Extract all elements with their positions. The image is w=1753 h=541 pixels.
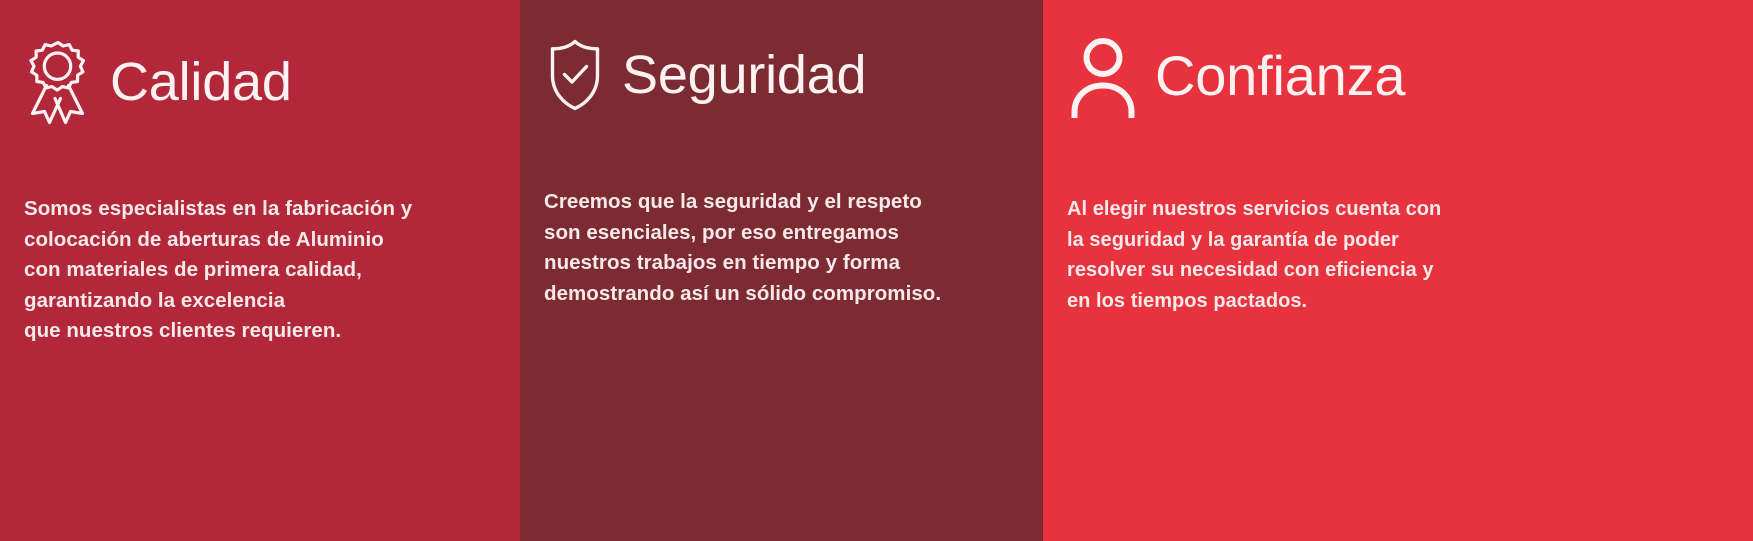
values-banner: Calidad Somos especialistas en la fabric…: [0, 0, 1753, 541]
shield-check-icon: [544, 36, 606, 114]
calidad-body-line: que nuestros clientes requieren.: [24, 316, 412, 347]
seguridad-body-line: demostrando así un sólido compromiso.: [544, 279, 941, 310]
calidad-body-line: colocación de aberturas de Aluminio: [24, 225, 412, 256]
award-ribbon-icon: [22, 36, 94, 128]
calidad-body: Somos especialistas en la fabricación y …: [24, 194, 412, 347]
seguridad-title: Seguridad: [622, 48, 866, 102]
confianza-body-line: la seguridad y la garantía de poder: [1067, 225, 1441, 256]
confianza-title: Confianza: [1155, 48, 1405, 104]
value-column-calidad: Calidad Somos especialistas en la fabric…: [0, 0, 520, 541]
calidad-body-line: con materiales de primera calidad,: [24, 255, 412, 286]
seguridad-body-line: nuestros trabajos en tiempo y forma: [544, 248, 941, 279]
seguridad-body-line: son esenciales, por eso entregamos: [544, 218, 941, 249]
confianza-body-line: en los tiempos pactados.: [1067, 286, 1441, 317]
calidad-body-line: garantizando la excelencia: [24, 286, 412, 317]
confianza-body-line: Al elegir nuestros servicios cuenta con: [1067, 194, 1441, 225]
confianza-body: Al elegir nuestros servicios cuenta con …: [1067, 194, 1441, 316]
calidad-title: Calidad: [110, 55, 292, 109]
confianza-heading: Confianza: [1067, 34, 1405, 118]
confianza-body-line: resolver su necesidad con eficiencia y: [1067, 255, 1441, 286]
calidad-body-line: Somos especialistas en la fabricación y: [24, 194, 412, 225]
person-icon: [1067, 34, 1139, 118]
seguridad-body: Creemos que la seguridad y el respeto so…: [544, 187, 941, 309]
calidad-heading: Calidad: [22, 36, 292, 128]
seguridad-body-line: Creemos que la seguridad y el respeto: [544, 187, 941, 218]
value-column-seguridad: Seguridad Creemos que la seguridad y el …: [520, 0, 1043, 541]
seguridad-heading: Seguridad: [544, 36, 866, 114]
value-column-confianza: Confianza Al elegir nuestros servicios c…: [1043, 0, 1753, 541]
